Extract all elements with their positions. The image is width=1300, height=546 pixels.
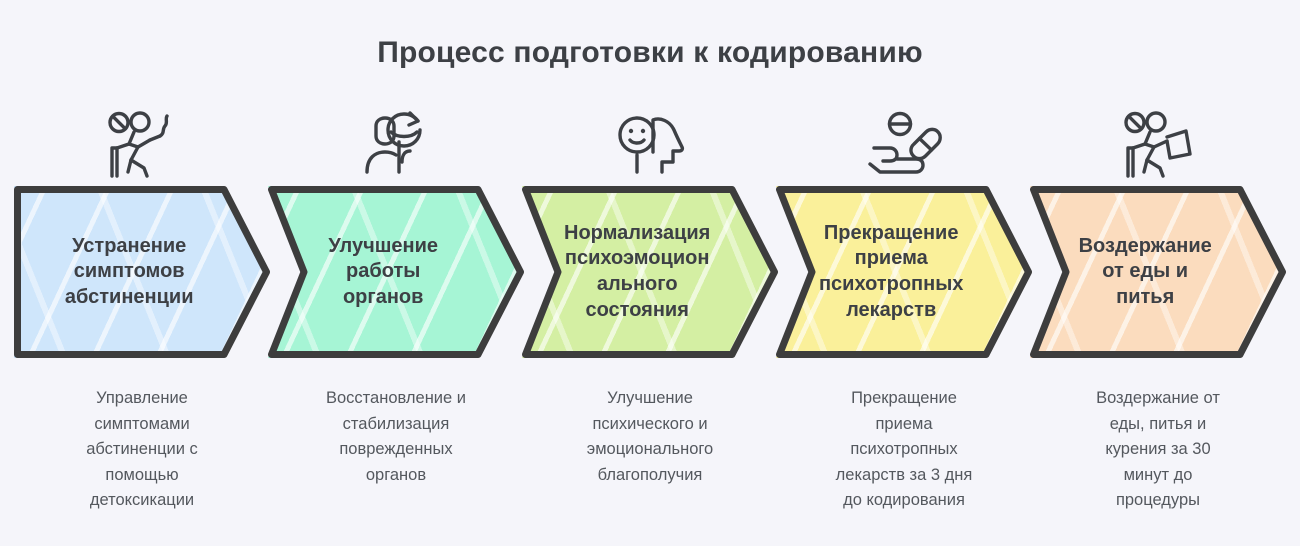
step-icon-wrap	[1030, 104, 1286, 186]
process-step[interactable]: Улучшение работы органов Восстановление …	[268, 104, 524, 544]
page-title: Процесс подготовки к кодированию	[0, 36, 1300, 70]
process-step[interactable]: Устранение симптомов абстиненции Управле…	[14, 104, 270, 544]
process-step[interactable]: Нормализация психоэмоцион ального состоя…	[522, 104, 778, 544]
step-caption: Улучшение психического и эмоционального …	[532, 386, 768, 488]
no-eating-person-icon	[1120, 110, 1196, 180]
hand-with-pills-icon	[866, 110, 942, 180]
step-icon-wrap	[522, 104, 778, 186]
step-caption: Управление симптомами абстиненции с помо…	[24, 386, 260, 514]
step-banner[interactable]: Прекращение приема психотропных лекарств	[776, 186, 1032, 358]
step-banner-label: Улучшение работы органов	[278, 186, 488, 358]
head-profile-smiley-icon	[612, 110, 688, 180]
step-banner-label: Нормализация психоэмоцион ального состоя…	[532, 186, 742, 358]
step-banner[interactable]: Устранение симптомов абстиненции	[14, 186, 270, 358]
process-step[interactable]: Прекращение приема психотропных лекарств…	[776, 104, 1032, 544]
person-recovery-refresh-icon	[358, 110, 434, 180]
step-caption: Прекращение приема психотропных лекарств…	[786, 386, 1022, 514]
step-icon-wrap	[268, 104, 524, 186]
process-step[interactable]: Воздержание от еды и питья Воздержание о…	[1030, 104, 1286, 544]
step-banner-label: Устранение симптомов абстиненции	[24, 186, 234, 358]
step-caption: Восстановление и стабилизация поврежденн…	[278, 386, 514, 488]
process-flow: Устранение симптомов абстиненции Управле…	[0, 104, 1300, 544]
step-caption: Воздержание от еды, питья и курения за 3…	[1040, 386, 1276, 514]
step-banner-label: Прекращение приема психотропных лекарств	[786, 186, 996, 358]
step-icon-wrap	[776, 104, 1032, 186]
step-banner-label: Воздержание от еды и питья	[1040, 186, 1250, 358]
step-banner[interactable]: Нормализация психоэмоцион ального состоя…	[522, 186, 778, 358]
step-icon-wrap	[14, 104, 270, 186]
step-banner[interactable]: Воздержание от еды и питья	[1030, 186, 1286, 358]
no-smoking-person-icon	[104, 110, 180, 180]
step-banner[interactable]: Улучшение работы органов	[268, 186, 524, 358]
